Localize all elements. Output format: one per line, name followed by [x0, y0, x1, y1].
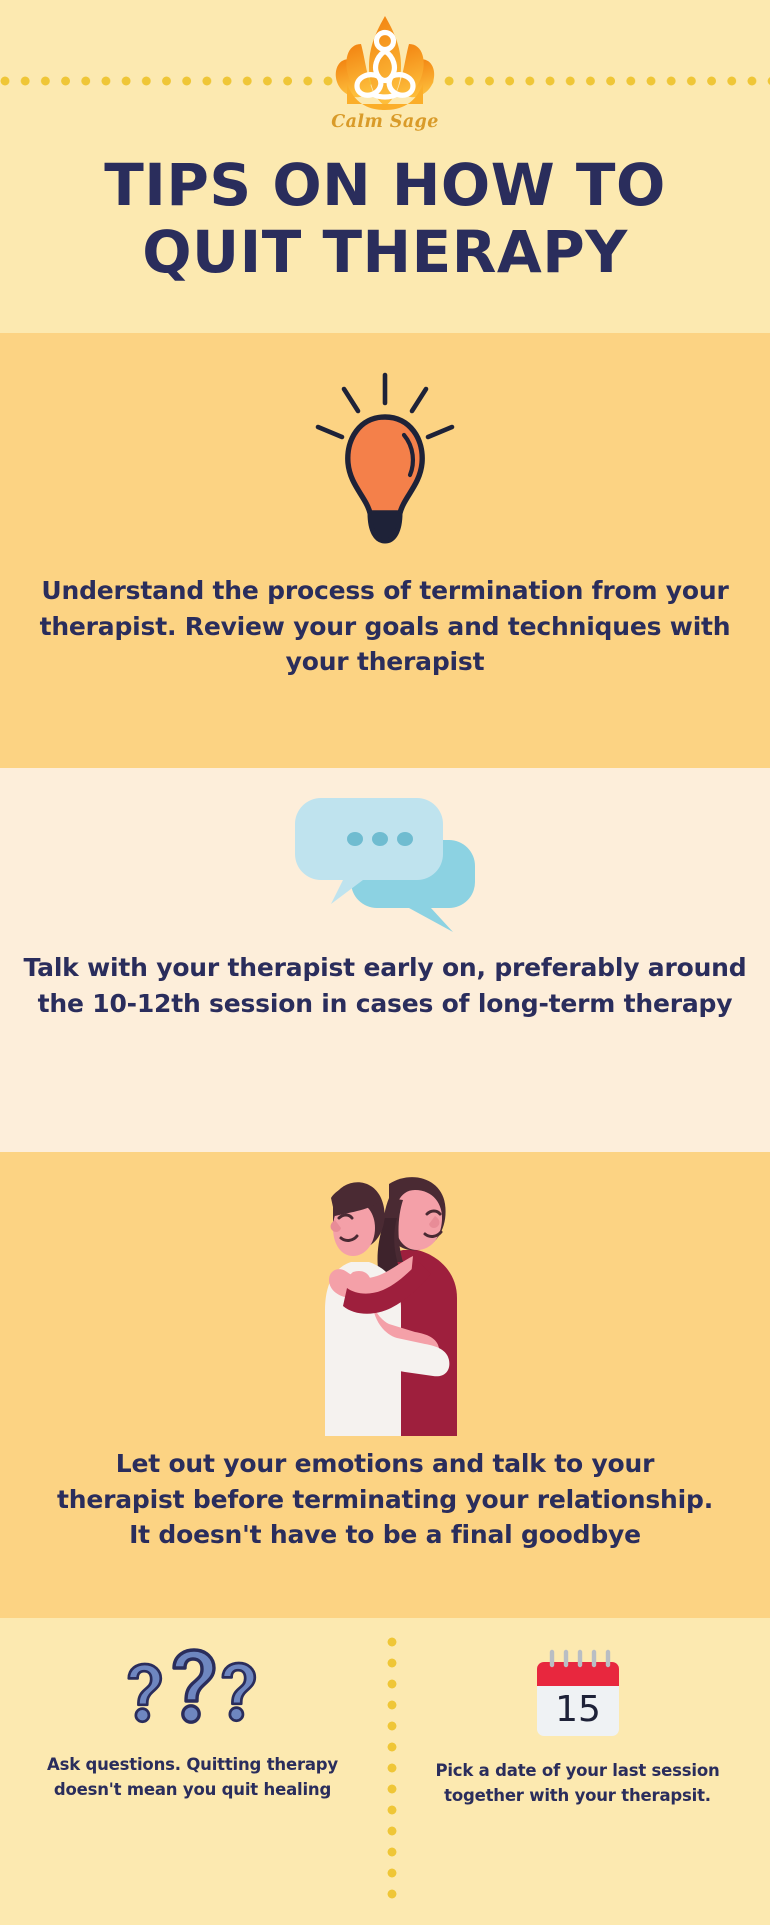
page-title: TIPS ON HOW TO QUIT THERAPY [0, 152, 770, 287]
calendar-icon: 15 [529, 1648, 627, 1744]
brand-logo: Calm Sage [320, 12, 450, 132]
lotus-meditation-icon [329, 12, 441, 116]
poster-header: Calm Sage TIPS ON HOW TO QUIT THERAPY [0, 0, 770, 333]
tip-1-illustration [0, 333, 770, 573]
speech-bubbles-icon [285, 788, 485, 938]
dotted-vertical-rule-icon [386, 1636, 398, 1908]
title-line-2: QUIT THERAPY [0, 219, 770, 286]
tip-4-column: Ask questions. Quitting therapy doesn't … [0, 1618, 385, 1925]
tip-section-1: Understand the process of termination fr… [0, 333, 770, 768]
tip-4-text: Ask questions. Quitting therapy doesn't … [0, 1752, 385, 1802]
title-line-1: TIPS ON HOW TO [0, 152, 770, 219]
tip-3-text: Let out your emotions and talk to your t… [0, 1446, 770, 1553]
tip-3-illustration [0, 1152, 770, 1446]
tip-2-text: Talk with your therapist early on, prefe… [0, 950, 770, 1021]
lightbulb-icon [300, 369, 470, 559]
infographic-poster: Calm Sage TIPS ON HOW TO QUIT THERAPY [0, 0, 770, 1925]
tip-5-column: 15 Pick a date of your last session toge… [385, 1618, 770, 1925]
hugging-people-icon [285, 1158, 485, 1436]
tip-2-illustration [0, 768, 770, 950]
brand-wordmark: Calm Sage [320, 112, 450, 132]
calendar-day-number: 15 [555, 1689, 601, 1730]
tip-section-bottom: Ask questions. Quitting therapy doesn't … [0, 1618, 770, 1925]
typing-dots-icon [347, 832, 413, 846]
question-marks-icon [118, 1648, 268, 1738]
tip-section-2: Talk with your therapist early on, prefe… [0, 768, 770, 1152]
tip-section-3: Let out your emotions and talk to your t… [0, 1152, 770, 1618]
tip-5-text: Pick a date of your last session togethe… [385, 1758, 770, 1808]
tip-1-text: Understand the process of termination fr… [0, 573, 770, 680]
